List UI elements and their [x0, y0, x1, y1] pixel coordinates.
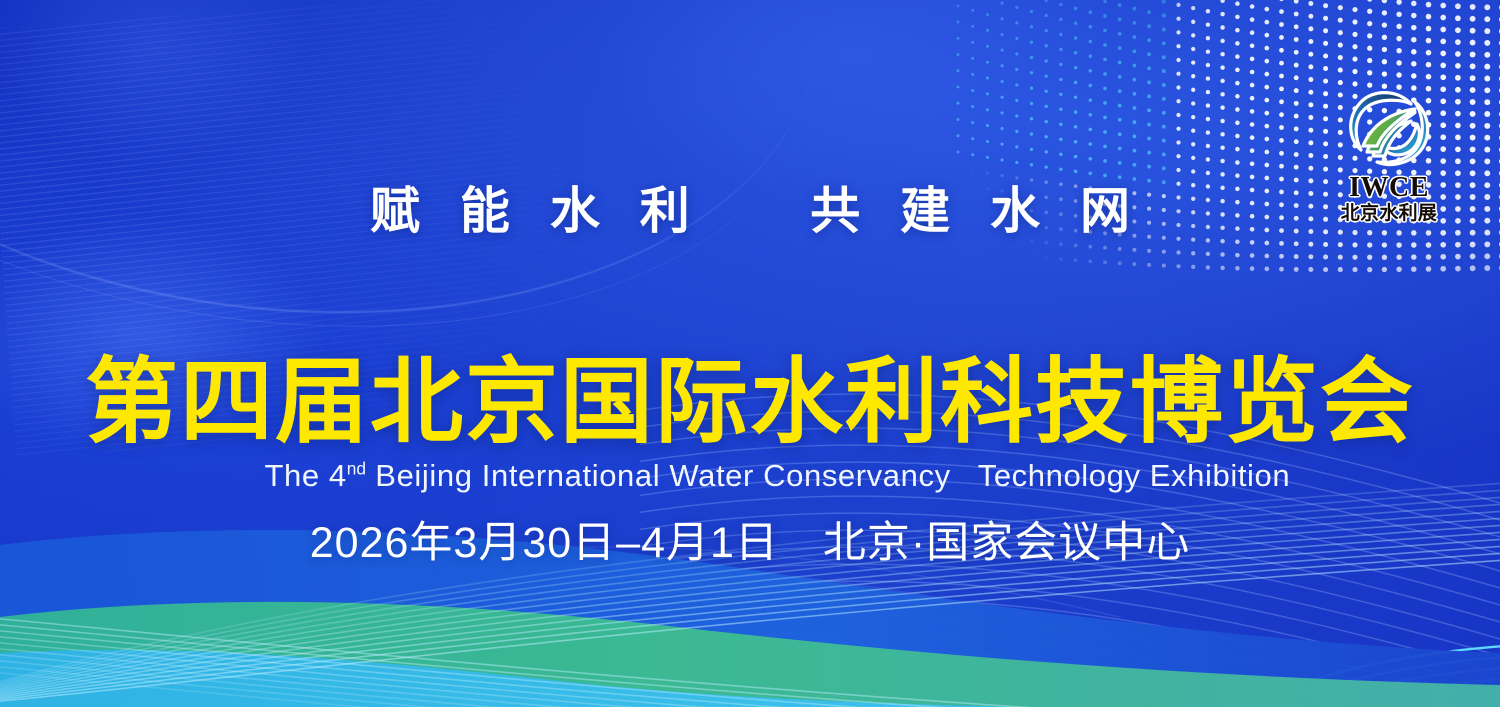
event-date-and-venue: 2026年3月30日–4月1日 北京·国家会议中心	[0, 518, 1500, 570]
event-subtitle-english: The 4nd Beijing International Water Cons…	[0, 420, 1500, 532]
subtitle-part-two: Beijing International Water Conservancy …	[366, 458, 1290, 493]
event-banner: 赋 能 水 利 共 建 水 网 第四届北京国际水利科技博览会 The 4nd B…	[0, 0, 1500, 707]
iwce-logo: IWCE 北京水利展	[1328, 78, 1450, 236]
logo-wordmark: IWCE	[1349, 174, 1429, 202]
subtitle-part-one: The 4	[265, 458, 347, 493]
iwce-emblem-icon	[1333, 78, 1445, 178]
logo-wordmark-chinese: 北京水利展	[1341, 204, 1438, 223]
subtitle-ordinal-suffix: nd	[347, 459, 366, 479]
event-slogan: 赋 能 水 利 共 建 水 网	[0, 186, 1500, 236]
